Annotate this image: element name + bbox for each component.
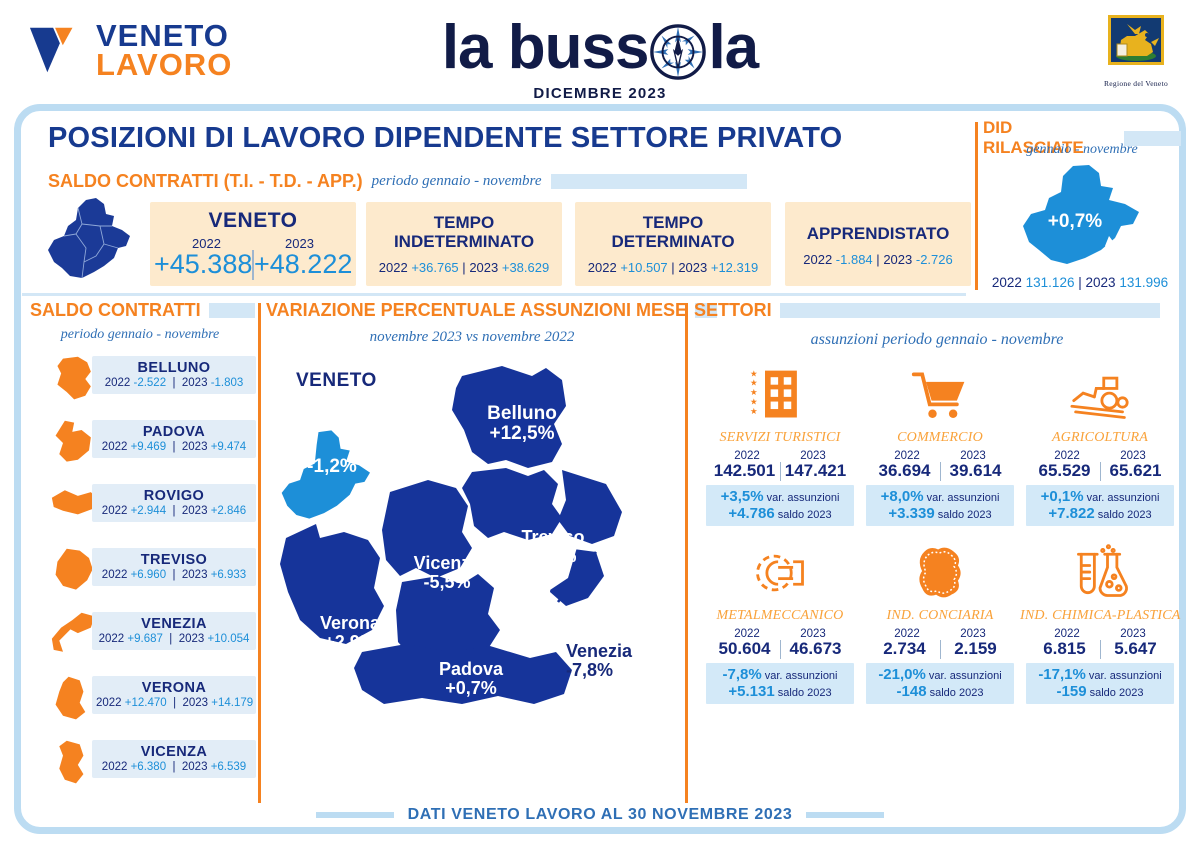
map-pct-vicenza: -5,5%	[392, 573, 502, 592]
orange-divider	[975, 122, 978, 290]
variazione-header: VARIAZIONE PERCENTUALE ASSUNZIONI MESE	[266, 300, 717, 321]
sep: |	[1078, 275, 1082, 290]
settori-sub: assunzioni periodo gennaio - novembre	[694, 331, 1180, 349]
province-name: TREVISO	[96, 552, 252, 568]
sector-value-2023: 5.647	[1101, 639, 1171, 659]
saldo-province-sub: periodo gennaio - novembre	[26, 327, 254, 343]
sector-stats-box: +0,1% var. assunzioni +7.822 saldo 2023	[1026, 485, 1174, 526]
sector-saldo-line: +5.131 saldo 2023	[708, 683, 852, 700]
sector-saldo-suffix: saldo 2023	[930, 687, 984, 699]
province-year-2023: 2023	[182, 441, 208, 453]
hotel-icon: ★★ ★★ ★	[700, 362, 860, 428]
province-name: BELLUNO	[96, 360, 252, 376]
page-header: VENETO LAVORO la buss	[0, 0, 1200, 110]
map-label-vicenza: Vicenza -5,5%	[392, 554, 502, 592]
sector-saldo-suffix: saldo 2023	[778, 509, 832, 521]
saldo-contratti-sub: periodo gennaio - novembre	[372, 173, 542, 190]
sector-var-suffix: var. assunzioni	[765, 670, 838, 682]
province-row[interactable]: BELLUNO 2022 -2.522 | 2023 -1.803	[26, 352, 256, 416]
stat-box-tempo-indeterminato: TEMPO INDETERMINATO 2022 +36.765 | 2023 …	[366, 202, 562, 286]
province-value-2023: +2.846	[211, 505, 247, 517]
sector-value-2023: 46.673	[781, 639, 851, 659]
td-value-2022: +10.507	[620, 260, 667, 275]
stat-box-veneto: VENETO 2022 2023 +45.388 +48.222	[150, 202, 356, 286]
map-label-belluno: Belluno +12,5%	[462, 404, 582, 444]
sep: |	[170, 697, 179, 709]
variazione-sub: novembre 2023 vs novembre 2022	[266, 329, 678, 346]
saldo-contratti-label: SALDO CONTRATTI (T.I. - T.D. - APP.)	[48, 171, 363, 192]
tractor-icon	[1020, 362, 1180, 428]
province-card: TREVISO 2022 +6.960 | 2023 +6.933	[92, 548, 256, 586]
province-year-2023: 2023	[182, 697, 208, 709]
td-year-2022: 2022	[588, 260, 617, 275]
province-value-2022: +9.687	[127, 633, 163, 645]
veneto-region-map-icon	[34, 196, 144, 288]
sector-value-2022: 50.604	[710, 639, 780, 659]
sector-stats-box: -21,0% var. assunzioni -148 saldo 2023	[866, 663, 1014, 704]
sector-var-suffix: var. assunzioni	[767, 492, 840, 504]
sector-saldo-value: +4.786	[728, 505, 774, 522]
sector-var-line: -17,1% var. assunzioni	[1028, 666, 1172, 683]
sector-value-2023: 147.421	[781, 461, 851, 481]
province-card: PADOVA 2022 +9.469 | 2023 +9.474	[92, 420, 256, 458]
td-values: 2022 +10.507 | 2023 +12.319	[575, 260, 771, 275]
td-year-2023: 2023	[678, 260, 707, 275]
page-title: POSIZIONI DI LAVORO DIPENDENTE SETTORE P…	[48, 122, 842, 155]
sector-var-suffix: var. assunzioni	[929, 670, 1002, 682]
did-percent: +0,7%	[1005, 211, 1145, 233]
sector-var-suffix: var. assunzioni	[1089, 670, 1162, 682]
province-year-2022: 2022	[102, 505, 128, 517]
sector-var-line: +8,0% var. assunzioni	[868, 488, 1012, 505]
stat-box-apprendistato: APPRENDISTATO 2022 -1.884 | 2023 -2.726	[785, 202, 971, 286]
province-card: VENEZIA 2022 +9.687 | 2023 +10.054	[92, 612, 256, 650]
vertical-divider-left	[258, 303, 261, 803]
sep: |	[671, 260, 674, 275]
brand-title-part2: la	[708, 12, 758, 83]
page-footer: DATI VENETO LAVORO AL 30 NOVEMBRE 2023	[0, 806, 1200, 824]
province-values: 2022 -2.522 | 2023 -1.803	[96, 377, 252, 389]
province-value-2022: +9.469	[131, 441, 167, 453]
did-footer-values: 2022 131.126 | 2023 131.996	[977, 275, 1183, 290]
did-sub: gennaio - novembre	[983, 142, 1181, 158]
province-name: ROVIGO	[96, 488, 252, 504]
province-row[interactable]: ROVIGO 2022 +2.944 | 2023 +2.846	[26, 480, 256, 544]
app-values: 2022 -1.884 | 2023 -2.726	[785, 252, 971, 267]
province-values: 2022 +2.944 | 2023 +2.846	[96, 505, 252, 517]
sector-stats-box: -17,1% var. assunzioni -159 saldo 2023	[1026, 663, 1174, 704]
province-row[interactable]: VERONA 2022 +12.470 | 2023 +14.179	[26, 672, 256, 736]
did-value-2023: 131.996	[1119, 275, 1168, 290]
sector-stats-box: -7,8% var. assunzioni +5.131 saldo 2023	[706, 663, 854, 704]
did-value-2022: 131.126	[1026, 275, 1075, 290]
sector-saldo-suffix: saldo 2023	[1090, 687, 1144, 699]
gear-icon	[700, 540, 860, 606]
sector-name: IND. CONCIARIA	[860, 608, 1020, 624]
ti-values: 2022 +36.765 | 2023 +38.629	[366, 260, 562, 275]
sep: |	[876, 252, 879, 267]
province-card: ROVIGO 2022 +2.944 | 2023 +2.846	[92, 484, 256, 522]
sector-saldo-value: +3.339	[888, 505, 934, 522]
td-value-2023: +12.319	[711, 260, 758, 275]
stat-veneto-value-2022: +45.388	[154, 249, 252, 280]
province-year-2022: 2022	[102, 569, 128, 581]
leather-icon	[860, 540, 1020, 606]
sector-saldo-suffix: saldo 2023	[1098, 509, 1152, 521]
province-value-2023: +6.933	[211, 569, 247, 581]
province-values: 2022 +6.380 | 2023 +6.539	[96, 761, 252, 773]
td-title-line1: TEMPO	[575, 213, 771, 232]
province-name: VERONA	[96, 680, 252, 696]
sector-name: COMMERCIO	[860, 430, 1020, 446]
vertical-divider-right	[685, 303, 688, 803]
province-year-2022: 2022	[96, 697, 122, 709]
sector-stats-box: +8,0% var. assunzioni +3.339 saldo 2023	[866, 485, 1014, 526]
map-name-padova: Padova	[416, 660, 526, 679]
sector-saldo-value: +7.822	[1048, 505, 1094, 522]
sector-var-value: -7,8%	[722, 666, 761, 683]
province-year-2023: 2023	[182, 505, 208, 517]
sector-var-value: +0,1%	[1041, 488, 1084, 505]
decorative-dash-right	[806, 812, 884, 818]
province-value-2022: +6.380	[131, 761, 167, 773]
province-value-2022: +2.944	[131, 505, 167, 517]
province-list: BELLUNO 2022 -2.522 | 2023 -1.803 PADOVA…	[26, 352, 256, 800]
app-title-line1: APPRENDISTATO	[785, 224, 971, 243]
ti-year-2022: 2022	[379, 260, 408, 275]
sector-saldo-value: +5.131	[728, 683, 774, 700]
sector-var-value: -17,1%	[1038, 666, 1086, 683]
sector-name: IND. CHIMICA-PLASTICA	[1020, 608, 1180, 624]
map-pct-treviso: -0,3%	[498, 547, 608, 566]
province-value-2022: -2.522	[133, 377, 166, 389]
td-title-line2: DETERMINATO	[575, 232, 771, 251]
province-values: 2022 +9.469 | 2023 +9.474	[96, 441, 252, 453]
map-pct-veneto: -1,2%	[286, 457, 378, 477]
sector-card[interactable]: ★★ ★★ ★ SERVIZI TURISTICI 2022 2023 142.…	[700, 362, 860, 526]
province-name: VICENZA	[96, 744, 252, 760]
map-pct-belluno: +12,5%	[462, 424, 582, 444]
sector-value-2023: 39.614	[941, 461, 1011, 481]
map-pct-verona: +2,9%	[298, 633, 402, 652]
sep: |	[169, 761, 178, 773]
province-value-2023: +6.539	[211, 761, 247, 773]
map-name-treviso: Treviso	[498, 528, 608, 547]
province-year-2023: 2023	[179, 633, 205, 645]
province-row[interactable]: VICENZA 2022 +6.380 | 2023 +6.539	[26, 736, 256, 800]
settori-header: SETTORI	[694, 300, 1160, 321]
sector-var-line: -7,8% var. assunzioni	[708, 666, 852, 683]
sector-value-2022: 6.815	[1030, 639, 1100, 659]
brand-title: la buss la	[442, 12, 758, 83]
variazione-label: VARIAZIONE PERCENTUALE ASSUNZIONI MESE	[266, 300, 687, 321]
sector-card[interactable]: IND. CONCIARIA 2022 2023 2.734 2.159 -21…	[860, 540, 1020, 704]
horizontal-divider	[22, 293, 966, 296]
province-year-2022: 2022	[99, 633, 125, 645]
sector-saldo-value: -148	[897, 683, 927, 700]
map-name-verona: Verona	[298, 614, 402, 633]
map-label-venezia: Venezia -7,8%	[566, 642, 676, 680]
ti-title-line1: TEMPO	[366, 213, 562, 232]
map-name-belluno: Belluno	[462, 404, 582, 424]
sector-saldo-line: -159 saldo 2023	[1028, 683, 1172, 700]
svg-text:★: ★	[750, 406, 758, 416]
saldo-province-label: SALDO CONTRATTI	[30, 300, 201, 321]
sector-saldo-suffix: saldo 2023	[938, 509, 992, 521]
sector-saldo-line: +3.339 saldo 2023	[868, 505, 1012, 522]
sector-card[interactable]: AGRICOLTURA 2022 2023 65.529 65.621 +0,1…	[1020, 362, 1180, 526]
sector-saldo-line: -148 saldo 2023	[868, 683, 1012, 700]
province-card: VICENZA 2022 +6.380 | 2023 +6.539	[92, 740, 256, 778]
province-card: VERONA 2022 +12.470 | 2023 +14.179	[92, 676, 256, 714]
province-row[interactable]: VENEZIA 2022 +9.687 | 2023 +10.054	[26, 608, 256, 672]
map-label-padova: Padova +0,7%	[416, 660, 526, 698]
province-card: BELLUNO 2022 -2.522 | 2023 -1.803	[92, 356, 256, 394]
app-year-2023: 2023	[883, 252, 912, 267]
saldo-contratti-header: SALDO CONTRATTI (T.I. - T.D. - APP.) per…	[48, 171, 747, 192]
province-row[interactable]: PADOVA 2022 +9.469 | 2023 +9.474	[26, 416, 256, 480]
sector-name: AGRICOLTURA	[1020, 430, 1180, 446]
province-values: 2022 +12.470 | 2023 +14.179	[96, 697, 252, 709]
sector-saldo-value: -159	[1057, 683, 1087, 700]
sector-value-2022: 142.501	[710, 461, 780, 481]
chemistry-icon	[1020, 540, 1180, 606]
sector-var-line: +3,5% var. assunzioni	[708, 488, 852, 505]
stat-box-tempo-determinato: TEMPO DETERMINATO 2022 +10.507 | 2023 +1…	[575, 202, 771, 286]
province-value-2022: +6.960	[131, 569, 167, 581]
sector-value-2022: 36.694	[870, 461, 940, 481]
sector-var-line: -21,0% var. assunzioni	[868, 666, 1012, 683]
brand-block: la buss la DICEMBRE	[0, 12, 1200, 102]
sector-value-2022: 65.529	[1030, 461, 1100, 481]
ti-value-2022: +36.765	[411, 260, 458, 275]
province-value-2023: +14.179	[211, 697, 253, 709]
did-year-2023: 2023	[1086, 275, 1116, 290]
settori-label: SETTORI	[694, 300, 772, 321]
app-year-2022: 2022	[803, 252, 832, 267]
sector-value-2023: 2.159	[941, 639, 1011, 659]
sep: |	[166, 633, 175, 645]
province-year-2022: 2022	[105, 377, 131, 389]
map-pct-padova: +0,7%	[416, 679, 526, 698]
sector-value-2023: 65.621	[1101, 461, 1171, 481]
sector-name: METALMECCANICO	[700, 608, 860, 624]
decorative-bar	[551, 174, 747, 189]
province-year-2023: 2023	[182, 761, 208, 773]
sector-saldo-line: +4.786 saldo 2023	[708, 505, 852, 522]
app-value-2022: -1.884	[836, 252, 873, 267]
province-values: 2022 +9.687 | 2023 +10.054	[96, 633, 252, 645]
map-label-rovigo: Rovigo +0,8%	[392, 720, 582, 739]
regione-crest-icon	[1105, 14, 1167, 72]
sector-saldo-suffix: saldo 2023	[778, 687, 832, 699]
ti-value-2023: +38.629	[502, 260, 549, 275]
province-value-2023: -1.803	[211, 377, 244, 389]
saldo-province-header: SALDO CONTRATTI	[30, 300, 255, 321]
compass-icon	[649, 23, 707, 81]
sector-card[interactable]: IND. CHIMICA-PLASTICA 2022 2023 6.815 5.…	[1020, 540, 1180, 704]
variazione-map: VENETO -1,2% Belluno +12,5% Treviso -0,3…	[266, 352, 682, 792]
province-value-2023: +9.474	[211, 441, 247, 453]
decorative-bar	[209, 303, 255, 318]
sector-value-2022: 2.734	[870, 639, 940, 659]
sector-saldo-line: +7.822 saldo 2023	[1028, 505, 1172, 522]
sector-stats-box: +3,5% var. assunzioni +4.786 saldo 2023	[706, 485, 854, 526]
sep: |	[462, 260, 465, 275]
sector-card[interactable]: METALMECCANICO 2022 2023 50.604 46.673 -…	[700, 540, 860, 704]
decorative-bar	[780, 303, 1160, 318]
province-values: 2022 +6.960 | 2023 +6.933	[96, 569, 252, 581]
map-pct-venezia: -7,8%	[566, 661, 676, 680]
province-row[interactable]: TREVISO 2022 +6.960 | 2023 +6.933	[26, 544, 256, 608]
province-value-2022: +12.470	[125, 697, 167, 709]
province-name: VENEZIA	[96, 616, 252, 632]
brand-date: DICEMBRE 2023	[0, 85, 1200, 102]
regione-label: Regione del Veneto	[1090, 79, 1182, 88]
province-year-2022: 2022	[102, 441, 128, 453]
sep: |	[169, 441, 178, 453]
app-value-2023: -2.726	[916, 252, 953, 267]
province-value-2023: +10.054	[208, 633, 250, 645]
sector-var-suffix: var. assunzioni	[1087, 492, 1160, 504]
sector-name: SERVIZI TURISTICI	[700, 430, 860, 446]
sector-var-value: -21,0%	[878, 666, 926, 683]
province-year-2022: 2022	[102, 761, 128, 773]
brand-title-part1: la buss	[442, 12, 649, 83]
ti-title-line2: INDETERMINATO	[366, 232, 562, 251]
stat-veneto-value-2023: +48.222	[254, 249, 352, 280]
ti-year-2023: 2023	[469, 260, 498, 275]
province-year-2023: 2023	[182, 569, 208, 581]
stat-box-veneto-title: VENETO	[150, 209, 356, 233]
sector-card[interactable]: COMMERCIO 2022 2023 36.694 39.614 +8,0% …	[860, 362, 1020, 526]
sector-var-suffix: var. assunzioni	[927, 492, 1000, 504]
sep: |	[169, 505, 178, 517]
sector-var-line: +0,1% var. assunzioni	[1028, 488, 1172, 505]
map-label-verona: Verona +2,9%	[298, 614, 402, 652]
decorative-dash-left	[316, 812, 394, 818]
map-name-vicenza: Vicenza	[392, 554, 502, 573]
sep: |	[169, 569, 178, 581]
map-name-venezia: Venezia	[566, 642, 676, 661]
province-name: PADOVA	[96, 424, 252, 440]
did-year-2022: 2022	[992, 275, 1022, 290]
footer-text: DATI VENETO LAVORO AL 30 NOVEMBRE 2023	[408, 806, 793, 824]
sector-var-value: +8,0%	[881, 488, 924, 505]
settori-grid: ★★ ★★ ★ SERVIZI TURISTICI 2022 2023 142.…	[700, 362, 1180, 718]
cart-icon	[860, 362, 1020, 428]
map-label-treviso: Treviso -0,3%	[498, 528, 608, 566]
sector-var-value: +3,5%	[721, 488, 764, 505]
did-rilasciate-panel: DID RILASCIATE gennaio - novembre +0,7% …	[975, 118, 1181, 290]
province-year-2023: 2023	[182, 377, 208, 389]
sep: |	[169, 377, 178, 389]
regione-veneto-logo: Regione del Veneto	[1090, 14, 1182, 88]
